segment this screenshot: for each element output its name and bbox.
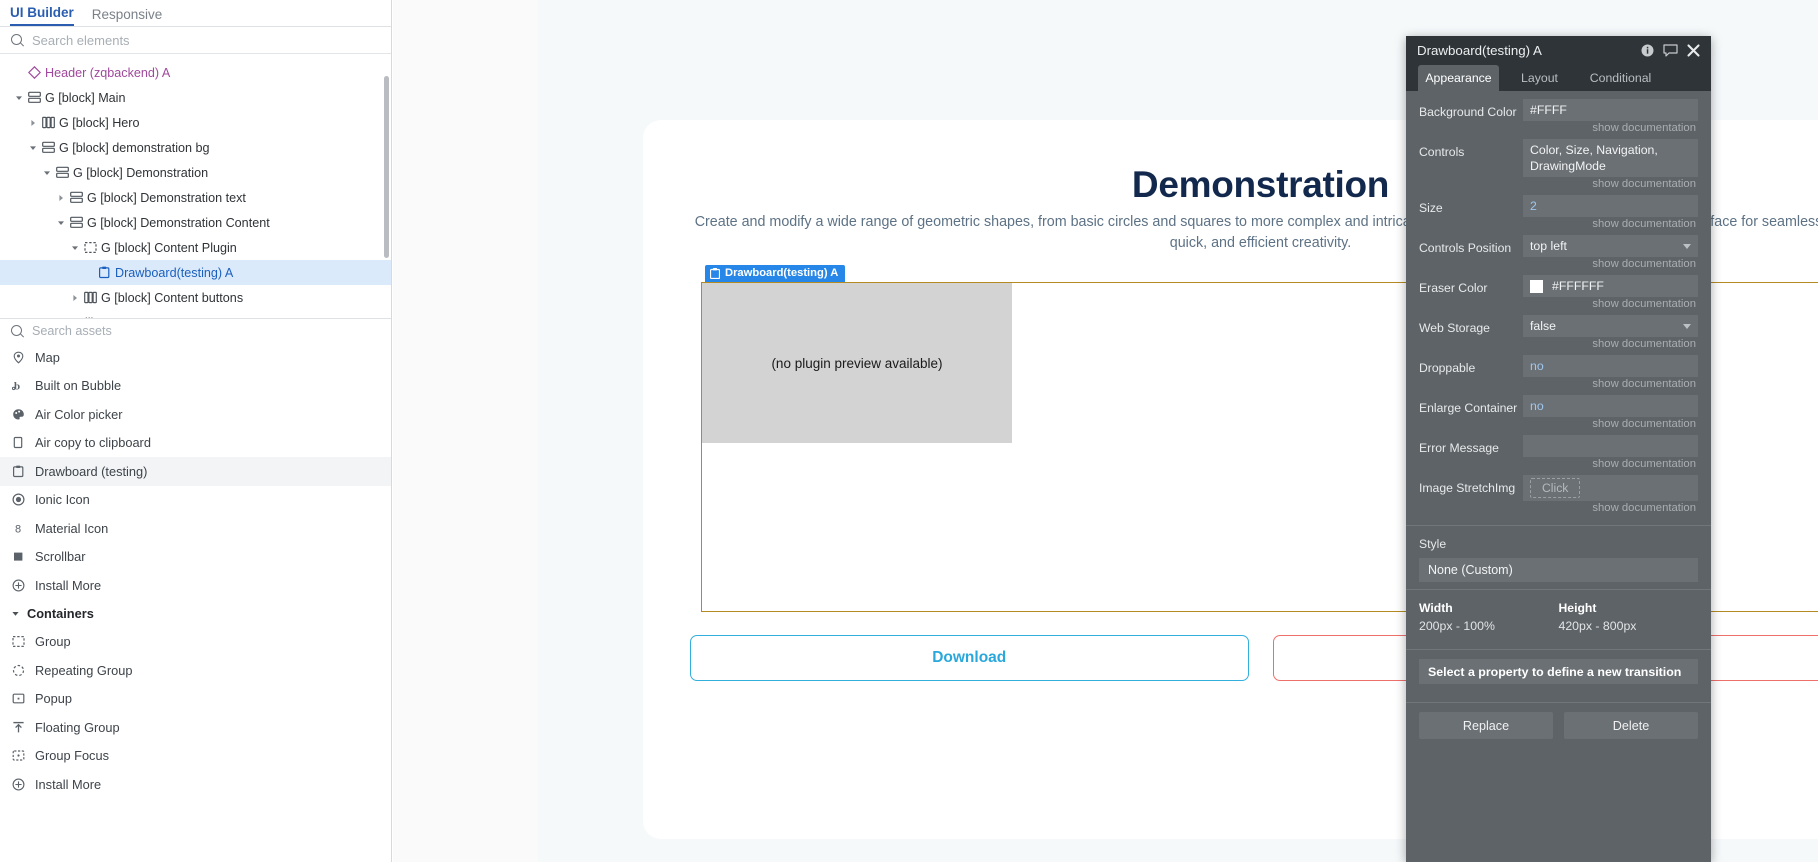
replace-button[interactable]: Replace (1419, 712, 1553, 739)
tab-appearance[interactable]: Appearance (1418, 65, 1499, 91)
palette-item[interactable]: Install More (0, 571, 391, 600)
tree-item[interactable]: G [block] Main (0, 85, 391, 110)
width-column: Width 200px - 100% (1419, 601, 1559, 633)
width-value: 200px - 100% (1419, 619, 1559, 633)
palette-item-label: Ionic Icon (35, 492, 90, 507)
property-value-color[interactable]: #FFFFFF (1523, 275, 1698, 297)
tree-item-label: G [block] Content Plugin (99, 241, 237, 255)
tree-item[interactable]: Drawboard(testing) A (0, 260, 391, 285)
palette-item-label: Air copy to clipboard (35, 435, 151, 450)
caret-down-icon (11, 609, 20, 618)
tree-item-label: G [block] demonstration bg (57, 141, 210, 155)
search-icon (11, 325, 24, 338)
search-elements-input[interactable] (32, 33, 380, 48)
property-label: Droppable (1419, 355, 1523, 394)
dashed-group-icon (11, 635, 26, 648)
show-documentation-link[interactable]: show documentation (1523, 457, 1698, 474)
tree-item[interactable]: Scrollbar A (0, 310, 391, 319)
property-value-dynamic[interactable]: no (1523, 395, 1698, 417)
palette-item-label: Built on Bubble (35, 378, 121, 393)
svg-text:b: b (14, 381, 20, 392)
property-label: Controls (1419, 139, 1523, 194)
show-documentation-link[interactable]: show documentation (1523, 177, 1698, 194)
svg-text:8: 8 (15, 523, 21, 534)
asset-search-bar[interactable] (0, 319, 391, 343)
search-icon (11, 34, 24, 47)
show-documentation-link[interactable]: show documentation (1523, 501, 1698, 518)
chevron-down-icon (1683, 244, 1691, 249)
palette-item-label: Floating Group (35, 720, 120, 735)
palette-item[interactable]: bBuilt on Bubble (0, 372, 391, 401)
property-value-text: no (1530, 398, 1544, 414)
palette-item[interactable]: Group (0, 628, 391, 657)
tree-item[interactable]: G [block] Demonstration (0, 160, 391, 185)
group-focus-icon (11, 749, 26, 762)
clipboard-icon (11, 465, 26, 478)
palette-item[interactable]: Repeating Group (0, 656, 391, 685)
property-panel-tabs: Appearance Layout Conditional (1406, 65, 1711, 91)
tree-item[interactable]: G [block] Demonstration text (0, 185, 391, 210)
map-pin-icon (11, 351, 26, 364)
show-documentation-link[interactable]: show documentation (1523, 337, 1698, 354)
palette-item[interactable]: Scrollbar (0, 543, 391, 572)
element-search-bar[interactable] (0, 27, 391, 54)
palette-item[interactable]: Floating Group (0, 713, 391, 742)
property-label: Background Color (1419, 99, 1523, 138)
tree-item[interactable]: G [block] Demonstration Content (0, 210, 391, 235)
property-value-wrap: #FFFFshow documentation (1523, 99, 1698, 138)
palette-item[interactable]: Map (0, 343, 391, 372)
click-placeholder[interactable]: Click (1530, 478, 1580, 498)
clipboard-icon (96, 266, 113, 279)
asset-palette: MapbBuilt on BubbleAir Color pickerAir c… (0, 319, 391, 862)
palette-group-label: Containers (27, 606, 94, 621)
close-icon[interactable] (1687, 44, 1700, 57)
property-row: Image StretchImgClickshow documentation (1406, 475, 1711, 518)
height-value: 420px - 800px (1559, 619, 1699, 633)
left-sidebar: UI Builder Responsive Header (zqbackend)… (0, 0, 392, 862)
palette-item[interactable]: Air Color picker (0, 400, 391, 429)
bubble-b-icon: b (11, 379, 26, 392)
property-value-wrap: Clickshow documentation (1523, 475, 1698, 518)
rows-icon (54, 166, 71, 179)
property-value-click[interactable]: Click (1523, 475, 1698, 501)
property-value-select[interactable]: top left (1523, 235, 1698, 257)
height-column: Height 420px - 800px (1559, 601, 1699, 633)
property-panel-title: Drawboard(testing) A (1417, 43, 1632, 58)
transition-section: Select a property to define a new transi… (1406, 650, 1711, 695)
property-value-text: 2 (1530, 198, 1537, 214)
plus-circle-icon (11, 778, 26, 791)
dashed-group-icon (82, 241, 99, 254)
palette-item[interactable]: Install More (0, 770, 391, 799)
plugin-preview-placeholder: (no plugin preview available) (702, 283, 1012, 443)
caret-right-icon[interactable] (54, 194, 68, 202)
palette-item-label: Install More (35, 578, 101, 593)
palette-item-label: Repeating Group (35, 663, 132, 678)
tree-item-label: Drawboard(testing) A (113, 266, 233, 280)
property-value-text: Color, Size, Navigation, DrawingMode (1530, 142, 1691, 174)
copy-icon (11, 436, 26, 449)
property-value-wrap: show documentation (1523, 435, 1698, 474)
property-row: Controls Positiontop leftshow documentat… (1406, 235, 1711, 274)
property-label: Error Message (1419, 435, 1523, 474)
selected-element-badge-label: Drawboard(testing) A (725, 267, 838, 279)
palette-item[interactable]: Popup (0, 685, 391, 714)
property-panel-titlebar: Drawboard(testing) A (1406, 36, 1711, 65)
palette-item-label: Popup (35, 691, 72, 706)
palette-item-label: Map (35, 350, 60, 365)
size-section: Width 200px - 100% Height 420px - 800px (1406, 590, 1711, 642)
caret-down-icon[interactable] (68, 244, 82, 252)
property-row: ControlsColor, Size, Navigation, Drawing… (1406, 139, 1711, 194)
show-documentation-link[interactable]: show documentation (1523, 297, 1698, 314)
show-documentation-link[interactable]: show documentation (1523, 377, 1698, 394)
palette-item[interactable]: 8Material Icon (0, 514, 391, 543)
property-value-text: no (1530, 358, 1544, 374)
property-row: Enlarge Containernoshow documentation (1406, 395, 1711, 434)
property-row: Web Storagefalseshow documentation (1406, 315, 1711, 354)
property-value-select[interactable]: false (1523, 315, 1698, 337)
search-assets-input[interactable] (32, 324, 380, 338)
property-label: Controls Position (1419, 235, 1523, 274)
property-value-dynamic[interactable]: 2 (1523, 195, 1698, 217)
canvas-left-gutter (393, 0, 538, 862)
tree-item[interactable]: G [block] demonstration bg (0, 135, 391, 160)
tree-item-label: G [block] Hero (57, 116, 140, 130)
color-swatch[interactable] (1530, 280, 1543, 293)
square-filled-icon (11, 550, 26, 563)
comment-icon[interactable] (1663, 44, 1678, 57)
tab-responsive[interactable]: Responsive (92, 8, 163, 27)
clipboard-icon (710, 268, 720, 279)
transition-select-value: Select a property to define a new transi… (1428, 665, 1681, 679)
property-value-wrap: #FFFFFFshow documentation (1523, 275, 1698, 314)
property-row: Eraser Color#FFFFFFshow documentation (1406, 275, 1711, 314)
chevron-down-icon (1683, 324, 1691, 329)
style-label: Style (1419, 537, 1698, 551)
tree-item-label: G [block] Demonstration (71, 166, 208, 180)
columns-icon (40, 116, 57, 129)
tree-item[interactable]: G [block] Content Plugin (0, 235, 391, 260)
tree-item-label: G [block] Demonstration text (85, 191, 246, 205)
delete-button[interactable]: Delete (1564, 712, 1698, 739)
property-value-text[interactable] (1523, 435, 1698, 457)
tree-item-label: G [block] Main (43, 91, 126, 105)
tree-item-label: G [block] Content buttons (99, 291, 243, 305)
rows-icon (68, 216, 85, 229)
rows-icon (26, 91, 43, 104)
columns-icon (82, 291, 99, 304)
show-documentation-link[interactable]: show documentation (1523, 257, 1698, 274)
palette-item-label: Air Color picker (35, 407, 122, 422)
caret-down-icon[interactable] (54, 219, 68, 227)
tree-item[interactable]: Header (zqbackend) A (0, 60, 391, 85)
height-label: Height (1559, 601, 1699, 615)
property-value-wrap: falseshow documentation (1523, 315, 1698, 354)
caret-right-icon[interactable] (26, 119, 40, 127)
palette-item-label: Group Focus (35, 748, 109, 763)
sidebar-tabs: UI Builder Responsive (0, 0, 391, 27)
popup-icon (11, 692, 26, 705)
selected-element-badge[interactable]: Drawboard(testing) A (705, 265, 845, 282)
property-value-wrap: noshow documentation (1523, 395, 1698, 434)
plus-circle-icon (11, 579, 26, 592)
property-row: Size2show documentation (1406, 195, 1711, 234)
property-value-text: #FFFFFF (1552, 278, 1604, 294)
tree-item[interactable]: G [block] Content buttons (0, 285, 391, 310)
palette-item-label: Scrollbar (35, 549, 86, 564)
ionic-circle-icon (11, 493, 26, 506)
panel-actions: Replace Delete (1406, 703, 1711, 739)
asset-palette-list: MapbBuilt on BubbleAir Color pickerAir c… (0, 343, 391, 799)
property-value-text: false (1530, 318, 1556, 334)
palette-item-label: Material Icon (35, 521, 108, 536)
property-fields-list: Background Color#FFFFshow documentationC… (1406, 91, 1711, 862)
material-icon: 8 (11, 522, 26, 535)
property-row: Error Messageshow documentation (1406, 435, 1711, 474)
property-editor-panel[interactable]: Drawboard(testing) A Appearance (1406, 36, 1711, 862)
palette-item-label: Group (35, 634, 71, 649)
show-documentation-link[interactable]: show documentation (1523, 417, 1698, 434)
palette-item[interactable]: Group Focus (0, 742, 391, 771)
tree-item-label: Header (zqbackend) A (43, 66, 170, 80)
palette-group-header[interactable]: Containers (0, 600, 391, 628)
property-row: Background Color#FFFFshow documentation (1406, 99, 1711, 138)
show-documentation-link[interactable]: show documentation (1523, 121, 1698, 138)
palette-item-label: Drawboard (testing) (35, 464, 147, 479)
tab-ui-builder[interactable]: UI Builder (10, 6, 74, 27)
property-label: Web Storage (1419, 315, 1523, 354)
palette-item[interactable]: Drawboard (testing) (0, 457, 391, 486)
property-label: Eraser Color (1419, 275, 1523, 314)
tree-item[interactable]: G [block] Hero (0, 110, 391, 135)
property-value-text[interactable]: Color, Size, Navigation, DrawingMode (1523, 139, 1698, 177)
palette-item-label: Install More (35, 777, 101, 792)
style-section: Style None (Custom) (1406, 526, 1711, 582)
palette-icon (11, 408, 26, 421)
property-value-dynamic[interactable]: no (1523, 355, 1698, 377)
rows-icon (40, 141, 57, 154)
property-row: Droppablenoshow documentation (1406, 355, 1711, 394)
property-value-wrap: Color, Size, Navigation, DrawingModeshow… (1523, 139, 1698, 194)
style-select-value: None (Custom) (1428, 563, 1513, 577)
rows-icon (68, 191, 85, 204)
property-value-wrap: top leftshow documentation (1523, 235, 1698, 274)
property-value-text[interactable]: #FFFF (1523, 99, 1698, 121)
property-label: Size (1419, 195, 1523, 234)
tree-item-label: G [block] Demonstration Content (85, 216, 270, 230)
floating-group-icon (11, 721, 26, 734)
width-label: Width (1419, 601, 1559, 615)
repeating-group-icon (11, 664, 26, 677)
property-value-wrap: noshow documentation (1523, 355, 1698, 394)
diamond-icon (26, 66, 43, 79)
info-icon[interactable] (1641, 44, 1654, 57)
style-select[interactable]: None (Custom) (1419, 558, 1698, 582)
property-value-text: #FFFF (1530, 102, 1567, 118)
element-tree-scrollbar[interactable] (384, 76, 389, 258)
palette-item[interactable]: Ionic Icon (0, 486, 391, 515)
caret-down-icon[interactable] (26, 144, 40, 152)
tab-layout[interactable]: Layout (1499, 65, 1580, 91)
property-value-wrap: 2show documentation (1523, 195, 1698, 234)
tab-conditional[interactable]: Conditional (1580, 65, 1661, 91)
transition-select[interactable]: Select a property to define a new transi… (1419, 659, 1698, 684)
property-value-text: top left (1530, 238, 1567, 254)
property-label: Enlarge Container (1419, 395, 1523, 434)
download-button[interactable]: Download (690, 635, 1249, 681)
palette-item[interactable]: Air copy to clipboard (0, 429, 391, 458)
element-tree[interactable]: Header (zqbackend) AG [block] MainG [blo… (0, 54, 391, 319)
caret-down-icon[interactable] (12, 94, 26, 102)
caret-right-icon[interactable] (68, 294, 82, 302)
caret-down-icon[interactable] (40, 169, 54, 177)
property-label: Image StretchImg (1419, 475, 1523, 518)
show-documentation-link[interactable]: show documentation (1523, 217, 1698, 234)
